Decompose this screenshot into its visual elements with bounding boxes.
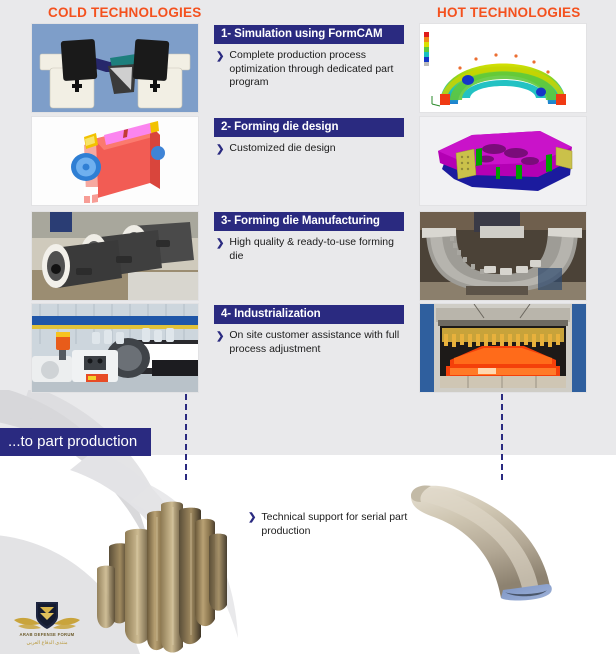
photo-metal-panel-stack[interactable] bbox=[95, 485, 230, 654]
step-block-3: 3- Forming die Manufacturing ❯ High qual… bbox=[214, 212, 404, 263]
thumbnail-cold-step-4[interactable] bbox=[31, 303, 199, 393]
step-title-3: 3- Forming die Manufacturing bbox=[214, 212, 404, 231]
part-production-banner: ...to part production bbox=[0, 428, 151, 456]
thumbnail-hot-step-2[interactable] bbox=[419, 116, 587, 206]
step-description-1: Complete production process optimization… bbox=[229, 49, 402, 90]
step-block-2: 2- Forming die design ❯ Customized die d… bbox=[214, 118, 404, 157]
logo-text: ARAB DEFENSE FORUM bbox=[8, 632, 86, 637]
chevron-right-icon: ❯ bbox=[216, 142, 224, 157]
step-description-3: High quality & ready-to-use forming die bbox=[229, 236, 402, 263]
step-title-1: 1- Simulation using FormCAM bbox=[214, 25, 404, 44]
thumbnail-cold-step-1[interactable] bbox=[31, 23, 199, 113]
chevron-right-icon: ❯ bbox=[248, 510, 256, 538]
step-block-1: 1- Simulation using FormCAM ❯ Complete p… bbox=[214, 25, 404, 90]
slide-canvas: COLD TECHNOLOGIES HOT TECHNOLOGIES bbox=[0, 0, 616, 654]
chevron-right-icon: ❯ bbox=[216, 49, 224, 90]
thumbnail-hot-step-1[interactable] bbox=[419, 23, 587, 113]
logo-text-arabic: منتدى الدفاع العربي bbox=[8, 640, 86, 646]
step-title-4: 4- Industrialization bbox=[214, 305, 404, 324]
column-header-hot: HOT TECHNOLOGIES bbox=[437, 5, 580, 20]
thumbnail-hot-step-4[interactable] bbox=[419, 303, 587, 393]
step-block-4: 4- Industrialization ❯ On site customer … bbox=[214, 305, 404, 356]
dashed-connector-left bbox=[185, 394, 187, 480]
step-description-2: Customized die design bbox=[229, 142, 335, 157]
dashed-connector-right bbox=[501, 394, 503, 480]
chevron-right-icon: ❯ bbox=[216, 329, 224, 356]
step-description-4: On site customer assistance with full pr… bbox=[229, 329, 402, 356]
column-header-cold: COLD TECHNOLOGIES bbox=[48, 5, 201, 20]
thumbnail-cold-step-2[interactable] bbox=[31, 116, 199, 206]
bottom-note-text: Technical support for serial part produc… bbox=[261, 510, 413, 538]
arab-defense-forum-logo: ARAB DEFENSE FORUM منتدى الدفاع العربي bbox=[8, 600, 86, 650]
chevron-right-icon: ❯ bbox=[216, 236, 224, 263]
thumbnail-hot-step-3[interactable] bbox=[419, 211, 587, 301]
step-title-2: 2- Forming die design bbox=[214, 118, 404, 137]
thumbnail-cold-step-3[interactable] bbox=[31, 211, 199, 301]
bottom-note: ❯ Technical support for serial part prod… bbox=[248, 510, 413, 538]
photo-metal-elbow-pipe[interactable] bbox=[405, 480, 605, 602]
